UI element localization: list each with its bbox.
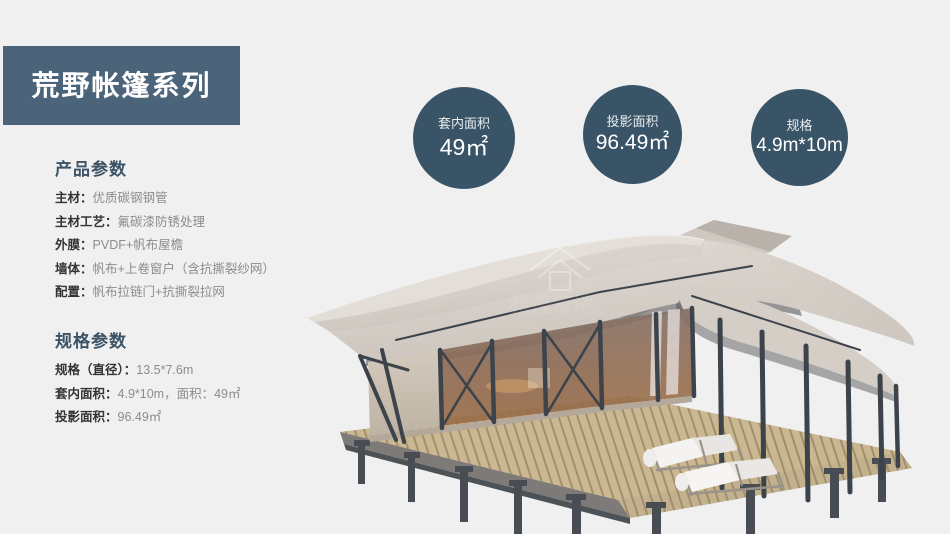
spec-value: 帆布拉链门+抗撕裂拉网: [93, 285, 225, 299]
stat-badge-dimensions[interactable]: 规格 4.9m*10m: [751, 89, 848, 186]
spec-label: 主材：: [55, 191, 93, 205]
spec-label: 规格（直径）：: [55, 363, 136, 377]
stat-badge-interior-area[interactable]: 套内面积 49㎡: [413, 87, 515, 189]
badge-value: 49㎡: [440, 135, 489, 159]
product-params-heading: 产品参数: [55, 160, 355, 180]
title-banner: 荒野帐篷系列: [3, 46, 240, 125]
spec-label: 墙体：: [55, 262, 93, 276]
badge-label: 套内面积: [438, 117, 490, 131]
spec-value: 氟碳漆防锈处理: [118, 215, 206, 229]
spec-label: 投影面积：: [55, 410, 118, 424]
badge-label: 投影面积: [606, 115, 658, 129]
spec-value: 4.9*10m，面积：49㎡: [118, 387, 241, 401]
badge-value: 96.49㎡: [596, 132, 670, 154]
spec-value: 优质碳钢钢管: [93, 191, 168, 205]
spec-label: 配置：: [55, 285, 93, 299]
spec-value: 13.5*7.6m: [136, 363, 193, 377]
spec-label: 外膜：: [55, 238, 93, 252]
spec-value: 帆布+上卷窗户（含抗撕裂纱网）: [93, 262, 275, 276]
spec-value: PVDF+帆布屋檐: [93, 238, 184, 252]
stat-badge-projected-area[interactable]: 投影面积 96.49㎡: [583, 85, 682, 184]
page-title: 荒野帐篷系列: [31, 72, 211, 100]
watermark-label: 帐篷营地: [510, 294, 594, 317]
badge-value: 4.9m*10m: [756, 136, 843, 156]
spec-value: 96.49㎡: [118, 410, 162, 424]
badge-label: 规格: [786, 119, 812, 133]
tent-illustration: 帐篷营地: [300, 200, 950, 534]
product-render-image: 帐篷营地: [300, 200, 950, 534]
spec-label: 主材工艺：: [55, 215, 118, 229]
slide-canvas: 荒野帐篷系列 产品参数 主材：优质碳钢钢管 主材工艺：氟碳漆防锈处理 外膜：PV…: [0, 0, 950, 534]
spec-label: 套内面积：: [55, 387, 118, 401]
